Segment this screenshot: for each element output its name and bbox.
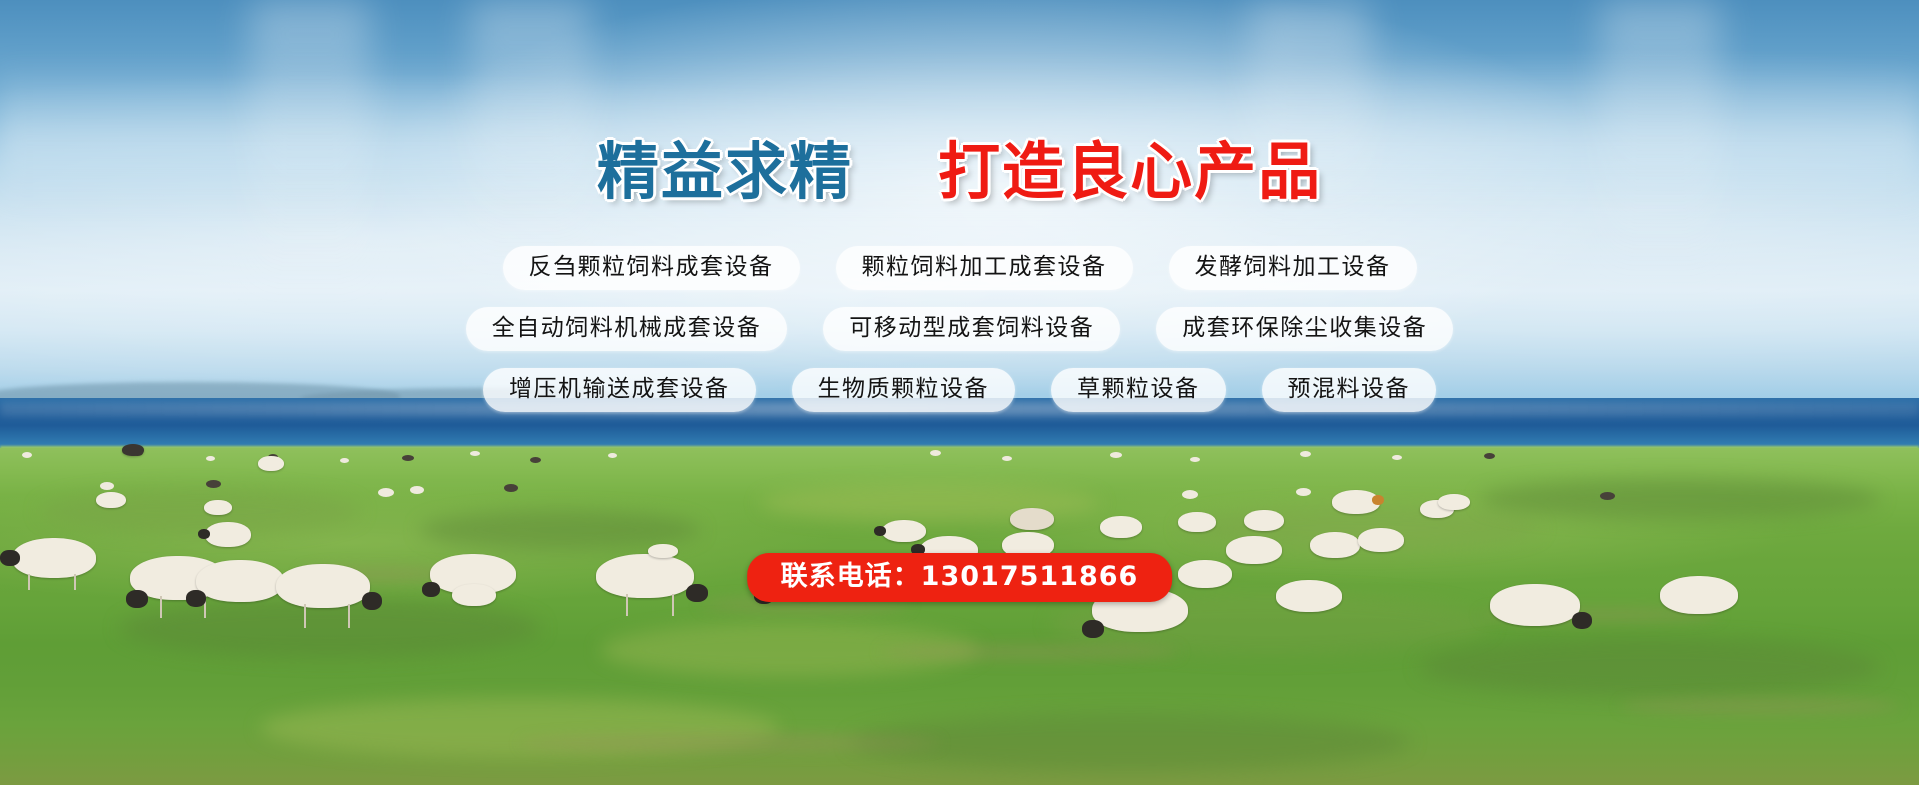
sheep (276, 564, 370, 608)
distant-animal (1182, 490, 1198, 499)
distant-animal (504, 484, 518, 492)
distant-animal (340, 458, 349, 463)
product-pill-premix-equipment[interactable]: 预混料设备 (1262, 368, 1437, 412)
distant-animal (1110, 452, 1122, 458)
contact-label: 联系电话： (781, 561, 921, 592)
distant-animal (608, 453, 617, 458)
distant-animal (1392, 455, 1402, 460)
sheep (1358, 528, 1404, 552)
product-pill-fully-automatic-feed-machinery-complete-equipment[interactable]: 全自动饲料机械成套设备 (466, 307, 788, 351)
sheep (1332, 490, 1380, 514)
sheep-head (874, 526, 886, 536)
sheep (1100, 516, 1142, 538)
product-pill-movable-complete-feed-equipment[interactable]: 可移动型成套饲料设备 (823, 307, 1120, 351)
distant-animal (1296, 488, 1311, 496)
sheep (205, 522, 251, 547)
sheep (96, 492, 126, 508)
distant-animal (930, 450, 941, 456)
sheep (1010, 508, 1054, 530)
contact-phone-banner[interactable]: 联系电话：13017511866 (747, 553, 1173, 602)
sheep (596, 554, 694, 598)
headline-part-one: 精益求精 (597, 135, 853, 208)
sheep (1178, 512, 1216, 532)
grassland (0, 448, 1919, 785)
distant-animal (402, 455, 414, 461)
product-pill-pellet-feed-processing-complete-equipment[interactable]: 颗粒饲料加工成套设备 (836, 246, 1133, 290)
product-pill-biomass-pellet-equipment[interactable]: 生物质颗粒设备 (792, 368, 1016, 412)
distant-animal (22, 452, 32, 458)
distant-animal (1190, 457, 1200, 462)
product-row-1: 反刍颗粒饲料成套设备 颗粒饲料加工成套设备 发酵饲料加工设备 (0, 246, 1919, 290)
sheep (1438, 494, 1470, 510)
product-category-list: 反刍颗粒饲料成套设备 颗粒饲料加工成套设备 发酵饲料加工设备 全自动饲料机械成套… (0, 246, 1919, 429)
cloud-streak (470, 0, 590, 260)
sheep-head (126, 590, 148, 608)
distant-animal (206, 456, 215, 461)
sheep-leg (160, 596, 162, 618)
sheep (1660, 576, 1738, 614)
sheep-leg (348, 604, 350, 628)
sheep-head (686, 584, 708, 602)
sheep-head (362, 592, 382, 610)
sheep-leg (28, 574, 30, 590)
product-pill-booster-conveying-complete-equipment[interactable]: 增压机输送成套设备 (483, 368, 756, 412)
sheep (204, 500, 232, 515)
distant-animal (530, 457, 541, 463)
sheep (648, 544, 678, 558)
promo-banner: 精益求精 打造良心产品 反刍颗粒饲料成套设备 颗粒饲料加工成套设备 发酵饲料加工… (0, 0, 1919, 785)
sheep (12, 538, 96, 578)
dirt-patch (880, 644, 1180, 660)
sheep-head (1572, 612, 1592, 629)
sheep-head (186, 590, 206, 607)
sheep (196, 560, 284, 602)
sheep-head (422, 582, 440, 597)
sheep (1244, 510, 1284, 531)
sheep (1490, 584, 1580, 626)
headline-part-two: 打造良心产品 (938, 135, 1322, 208)
sheep (1178, 560, 1232, 588)
sheep (882, 520, 926, 542)
grass-patch (1420, 638, 1880, 696)
distant-animal (1002, 456, 1012, 461)
product-pill-fermented-feed-processing-equipment[interactable]: 发酵饲料加工设备 (1169, 246, 1417, 290)
distant-animal (470, 451, 480, 456)
sheep (452, 584, 496, 606)
sheep-leg (74, 574, 76, 590)
sheep (258, 456, 284, 471)
sheep-head (1372, 495, 1384, 505)
product-pill-complete-eco-dust-collection-equipment[interactable]: 成套环保除尘收集设备 (1156, 307, 1453, 351)
distant-animal (1600, 492, 1615, 500)
grass-patch (40, 488, 360, 534)
sheep-leg (626, 594, 628, 616)
product-pill-grass-pellet-equipment[interactable]: 草颗粒设备 (1051, 368, 1226, 412)
distant-animal (1300, 451, 1311, 457)
grass-patch (1480, 478, 1880, 520)
dirt-patch (1620, 698, 1900, 714)
sheep (1276, 580, 1342, 612)
product-row-2: 全自动饲料机械成套设备 可移动型成套饲料设备 成套环保除尘收集设备 (0, 307, 1919, 351)
sheep (1226, 536, 1282, 564)
sheep (122, 444, 144, 456)
distant-animal (410, 486, 424, 494)
dirt-patch (520, 734, 940, 752)
sheep-head (0, 550, 20, 566)
sheep-head (198, 529, 210, 539)
product-pill-ruminant-pellet-feed-complete-equipment[interactable]: 反刍颗粒饲料成套设备 (503, 246, 800, 290)
product-row-3: 增压机输送成套设备 生物质颗粒设备 草颗粒设备 预混料设备 (0, 368, 1919, 412)
distant-animal (1484, 453, 1495, 459)
distant-animal (100, 482, 114, 490)
distant-animal (206, 480, 221, 488)
sheep (1310, 532, 1360, 558)
page-title: 精益求精 打造良心产品 (0, 140, 1919, 204)
sheep-leg (304, 604, 306, 628)
contact-phone-number: 13017511866 (921, 561, 1139, 592)
sheep-head (1082, 620, 1104, 638)
sheep-leg (672, 594, 674, 616)
distant-animal (378, 488, 394, 497)
